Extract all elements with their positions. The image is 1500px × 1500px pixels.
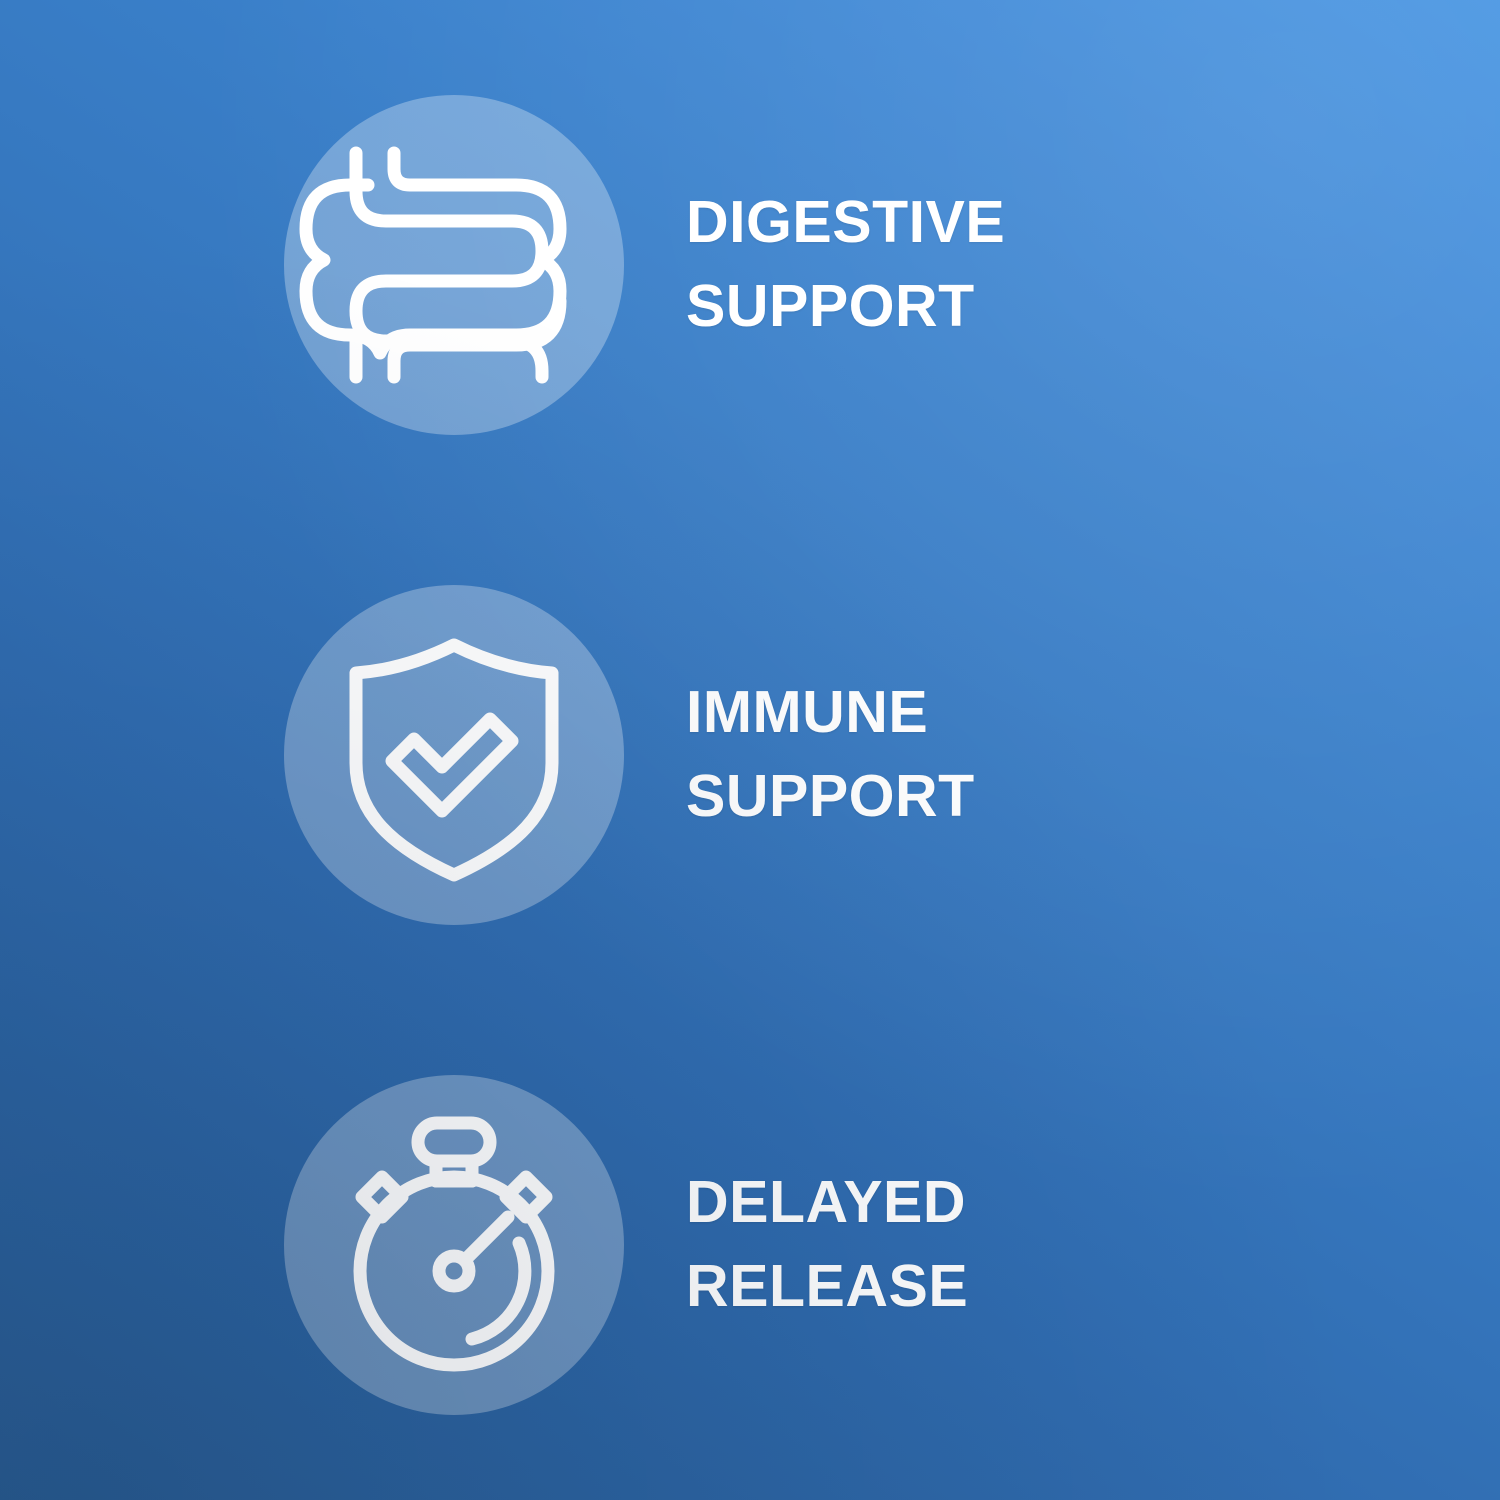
icon-disc-digestive-support: [284, 95, 624, 435]
shield-check-icon: [284, 585, 624, 925]
benefit-row-immune-support: Immune Support: [0, 585, 1500, 925]
benefits-panel: Digestive Support Immune Support: [0, 0, 1500, 1500]
benefit-label-digestive-support: Digestive Support: [686, 181, 1005, 349]
benefit-row-delayed-release: Delayed Release: [0, 1075, 1500, 1415]
stopwatch-icon: [284, 1075, 624, 1415]
benefit-label-immune-support: Immune Support: [686, 671, 975, 839]
icon-disc-delayed-release: [284, 1075, 624, 1415]
icon-disc-immune-support: [284, 585, 624, 925]
intestine-icon: [284, 95, 624, 435]
benefit-row-digestive-support: Digestive Support: [0, 95, 1500, 435]
benefit-label-delayed-release: Delayed Release: [686, 1161, 968, 1329]
